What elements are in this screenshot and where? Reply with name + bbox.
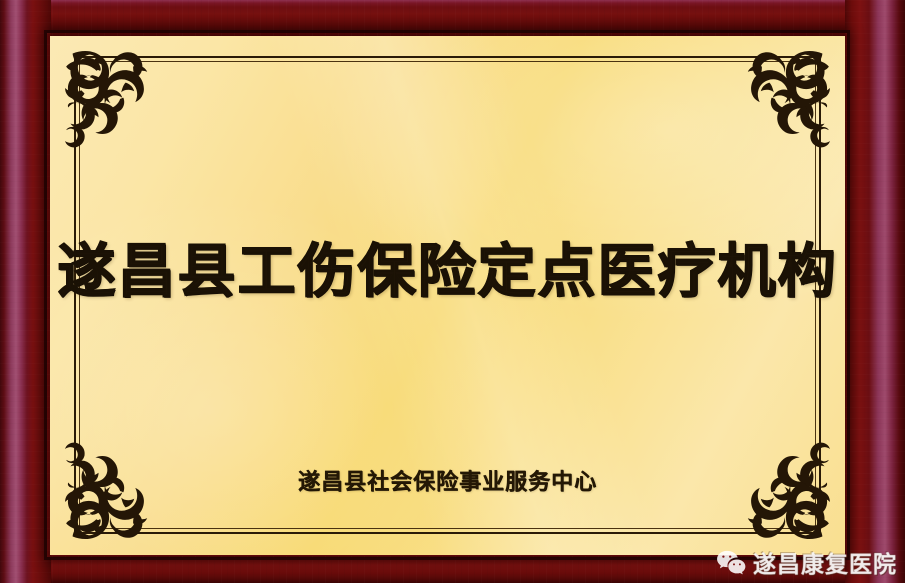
frame-rail-left	[0, 0, 51, 583]
frame-rail-right	[845, 0, 905, 583]
wood-grain-texture	[0, 0, 905, 37]
wood-grain-texture	[0, 0, 51, 583]
plaque-issuer: 遂昌县社会保险事业服务中心	[50, 464, 845, 496]
plaque-photo: 遂昌县工伤保险定点医疗机构 遂昌县社会保险事业服务中心 遂昌康复医院	[0, 0, 905, 583]
corner-flourish-icon	[64, 47, 172, 155]
frame-rail-bottom	[0, 556, 905, 583]
plaque-title: 遂昌县工伤保险定点医疗机构	[50, 224, 845, 308]
frame-rail-top	[0, 0, 905, 37]
wood-grain-texture	[0, 556, 905, 583]
corner-flourish-icon	[723, 47, 831, 155]
wood-grain-texture	[845, 0, 905, 583]
gold-plate: 遂昌县工伤保险定点医疗机构 遂昌县社会保险事业服务中心	[50, 36, 845, 555]
